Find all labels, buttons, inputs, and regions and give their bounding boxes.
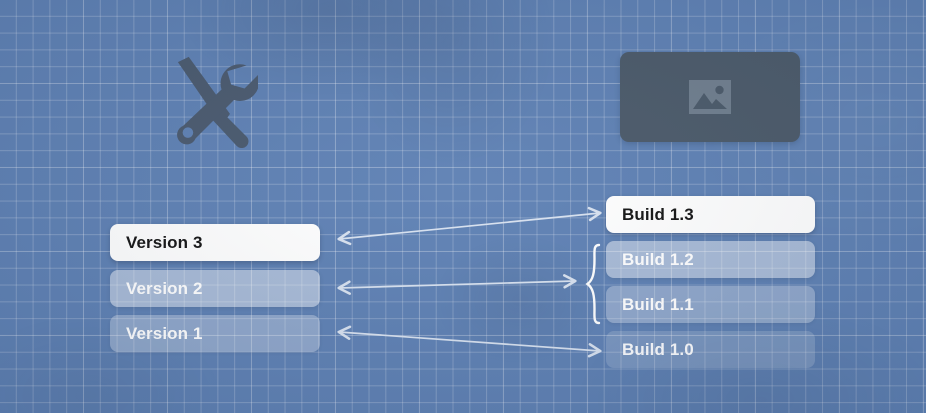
version-card-label: Version 2 [126, 279, 203, 299]
arrow-version1-build10 [339, 332, 600, 351]
image-placeholder-icon [689, 80, 731, 114]
arrow-version3-build13 [339, 213, 600, 239]
version-card-version-3[interactable]: Version 3 [110, 224, 320, 261]
build-card-build-1-2[interactable]: Build 1.2 [606, 241, 815, 278]
build-card-build-1-0[interactable]: Build 1.0 [606, 331, 815, 368]
build-card-build-1-1[interactable]: Build 1.1 [606, 286, 815, 323]
build-card-label: Build 1.1 [622, 295, 694, 315]
version-card-version-1[interactable]: Version 1 [110, 315, 320, 352]
version-card-label: Version 1 [126, 324, 203, 344]
image-placeholder-panel [620, 52, 800, 142]
diagram-canvas: Version 3 Version 2 Version 1 Build 1.3 … [0, 0, 926, 413]
version-card-version-2[interactable]: Version 2 [110, 270, 320, 307]
build-card-label: Build 1.2 [622, 250, 694, 270]
tools-icon [162, 52, 258, 148]
arrow-version2-buildgroup [339, 281, 575, 288]
build-card-label: Build 1.3 [622, 205, 694, 225]
group-brace-icon [583, 243, 603, 325]
build-card-label: Build 1.0 [622, 340, 694, 360]
version-card-label: Version 3 [126, 233, 203, 253]
build-card-build-1-3[interactable]: Build 1.3 [606, 196, 815, 233]
